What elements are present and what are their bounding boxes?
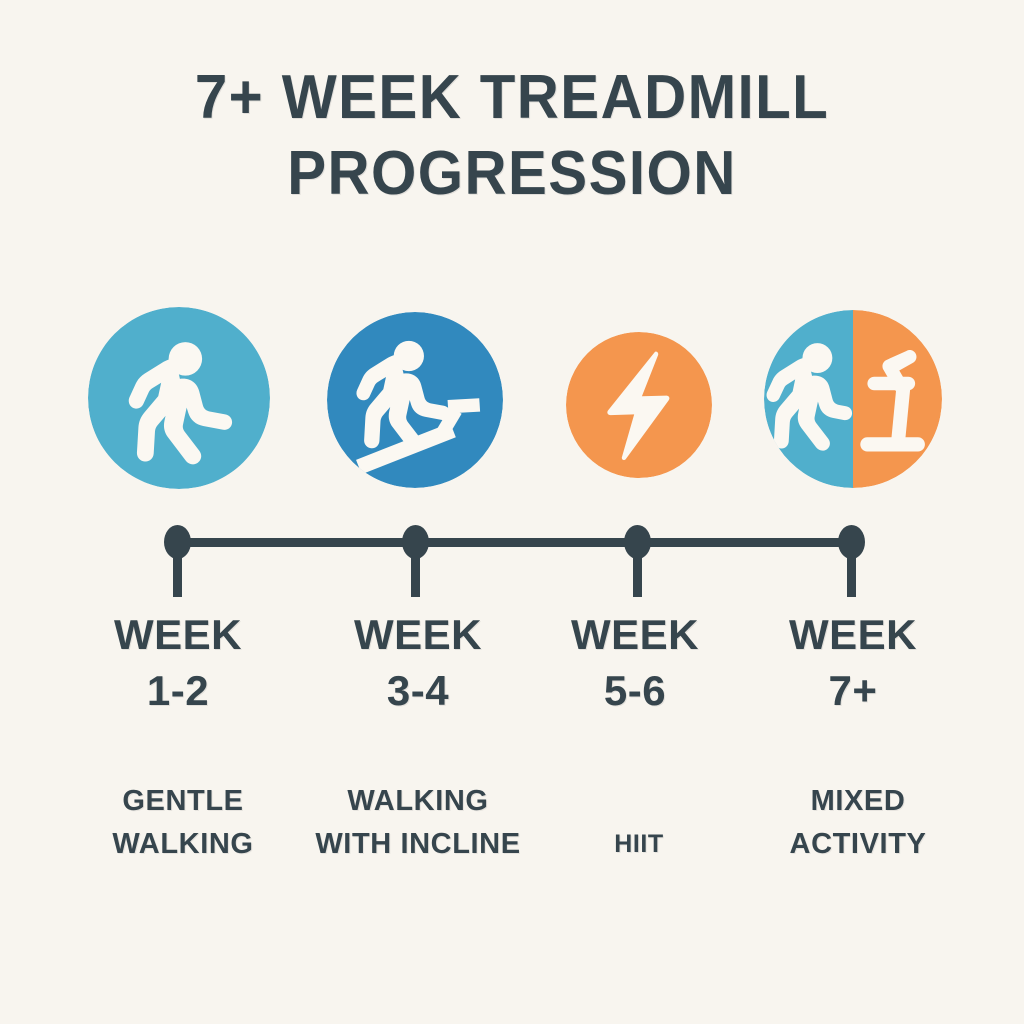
caption-line-1-stage-3: HIIT — [549, 823, 729, 866]
stage-captions-row: Gentle Walking Walking With Incline HIIT… — [0, 780, 1024, 900]
week-range-1-2: 1-2 — [58, 663, 298, 719]
week-labels-row: Week 1-2 Week 3-4 Week 5-6 Week 7+ — [0, 607, 1024, 727]
caption-line-2-stage-1: Walking — [58, 823, 308, 866]
page-title-line-1: 7+ Week Treadmill — [31, 60, 994, 136]
caption-week-5-6: HIIT — [549, 780, 729, 866]
lightning-bolt-icon — [566, 332, 712, 478]
caption-week-3-4: Walking With Incline — [288, 780, 548, 866]
timeline-stem-week-3-4 — [411, 550, 420, 597]
week-word-5-6: Week — [525, 607, 745, 663]
timeline-stem-week-1-2 — [173, 550, 182, 597]
caption-week-7-plus: Mixed Activity — [743, 780, 973, 866]
week-range-3-4: 3-4 — [298, 663, 538, 719]
timeline-axis-line — [177, 538, 852, 547]
week-label-1-2: Week 1-2 — [58, 607, 298, 719]
week-label-7-plus: Week 7+ — [743, 607, 963, 719]
week-label-5-6: Week 5-6 — [525, 607, 745, 719]
page-title: 7+ Week Treadmill Progression — [0, 60, 1024, 212]
week-word-1-2: Week — [58, 607, 298, 663]
page-title-line-2: Progression — [31, 136, 994, 212]
split-walking-treadmill-icon — [764, 310, 942, 488]
week-word-3-4: Week — [298, 607, 538, 663]
caption-line-2-stage-2: With Incline — [288, 823, 548, 866]
week-range-7-plus: 7+ — [743, 663, 963, 719]
caption-line-2-stage-4: Activity — [743, 823, 973, 866]
timeline-stem-week-7-plus — [847, 550, 856, 597]
week-word-7-plus: Week — [743, 607, 963, 663]
progression-timeline — [0, 510, 1024, 610]
caption-week-1-2: Gentle Walking — [58, 780, 308, 866]
caption-line-1-stage-2: Walking — [288, 780, 548, 823]
treadmill-walking-incline-icon — [327, 312, 503, 488]
walking-person-icon — [88, 307, 270, 489]
caption-line-1-stage-1: Gentle — [58, 780, 308, 823]
week-range-5-6: 5-6 — [525, 663, 745, 719]
week-label-3-4: Week 3-4 — [298, 607, 538, 719]
stage-icons-row — [0, 305, 1024, 505]
timeline-stem-week-5-6 — [633, 550, 642, 597]
caption-line-1-stage-4: Mixed — [743, 780, 973, 823]
infographic-canvas: 7+ Week Treadmill Progression — [0, 0, 1024, 1024]
